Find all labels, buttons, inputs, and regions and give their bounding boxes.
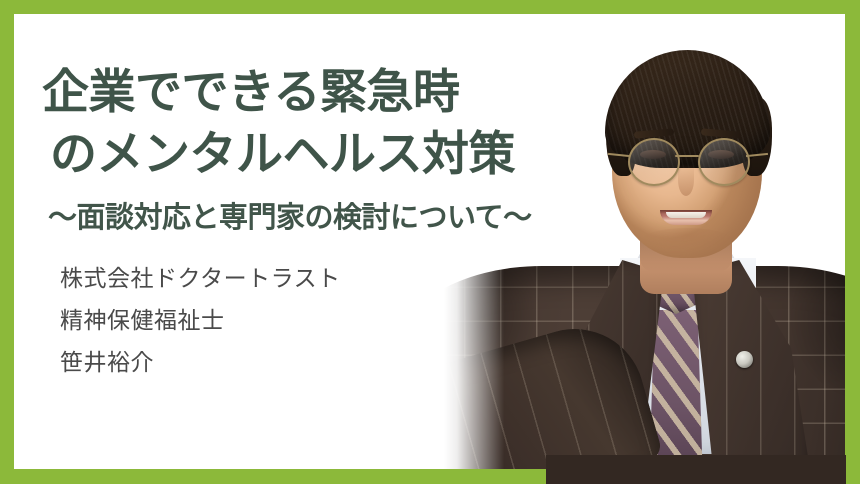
chin-shadow <box>642 228 732 252</box>
suit-overhang-bottom <box>546 455 846 484</box>
title-line-1: 企業でできる緊急時 <box>42 62 582 124</box>
presenter-name: 笹井裕介 <box>60 342 582 384</box>
slide-root: 企業でできる緊急時 のメンタルヘルス対策 〜面談対応と専門家の検討について〜 株… <box>0 0 860 484</box>
glasses-lens-right <box>698 138 750 186</box>
text-block: 企業でできる緊急時 のメンタルヘルス対策 〜面談対応と専門家の検討について〜 株… <box>42 62 582 384</box>
presenter-company: 株式会社ドクタートラスト <box>60 258 582 300</box>
glasses-lens-left <box>628 138 680 186</box>
presenter-qualification: 精神保健福祉士 <box>60 300 582 342</box>
nose <box>678 164 694 196</box>
lapel-pin-icon <box>736 351 753 368</box>
subtitle: 〜面談対応と専門家の検討について〜 <box>48 198 582 236</box>
presenter-block: 株式会社ドクタートラスト 精神保健福祉士 笹井裕介 <box>60 258 582 384</box>
glasses-bridge <box>675 155 699 157</box>
inner-white-panel: 企業でできる緊急時 のメンタルヘルス対策 〜面談対応と専門家の検討について〜 株… <box>14 14 845 469</box>
title-line-2: のメンタルヘルス対策 <box>50 124 582 186</box>
teeth <box>666 212 706 218</box>
